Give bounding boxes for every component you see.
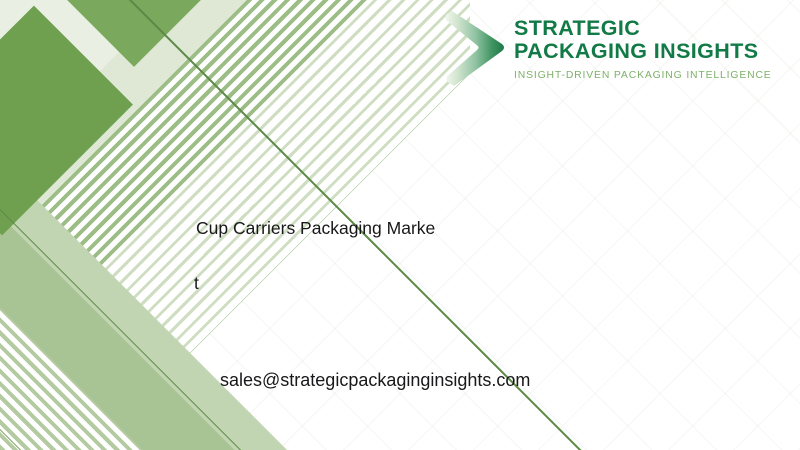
slide-title-line-1: Cup Carriers Packaging Marke (196, 218, 435, 239)
slide-title-line-2: t (194, 273, 199, 294)
logo-name-line-2: PACKAGING INSIGHTS (514, 40, 772, 63)
company-logo: STRATEGIC PACKAGING INSIGHTS INSIGHT-DRI… (444, 6, 774, 92)
chevron-arrow-mark-icon (444, 9, 506, 89)
logo-tagline: INSIGHT-DRIVEN PACKAGING INTELLIGENCE (514, 70, 772, 81)
contact-email: sales@strategicpackaginginsights.com (220, 370, 530, 391)
title-slide: STRATEGIC PACKAGING INSIGHTS INSIGHT-DRI… (0, 0, 800, 450)
logo-wordmark: STRATEGIC PACKAGING INSIGHTS INSIGHT-DRI… (514, 17, 772, 81)
logo-name-line-1: STRATEGIC (514, 17, 772, 40)
